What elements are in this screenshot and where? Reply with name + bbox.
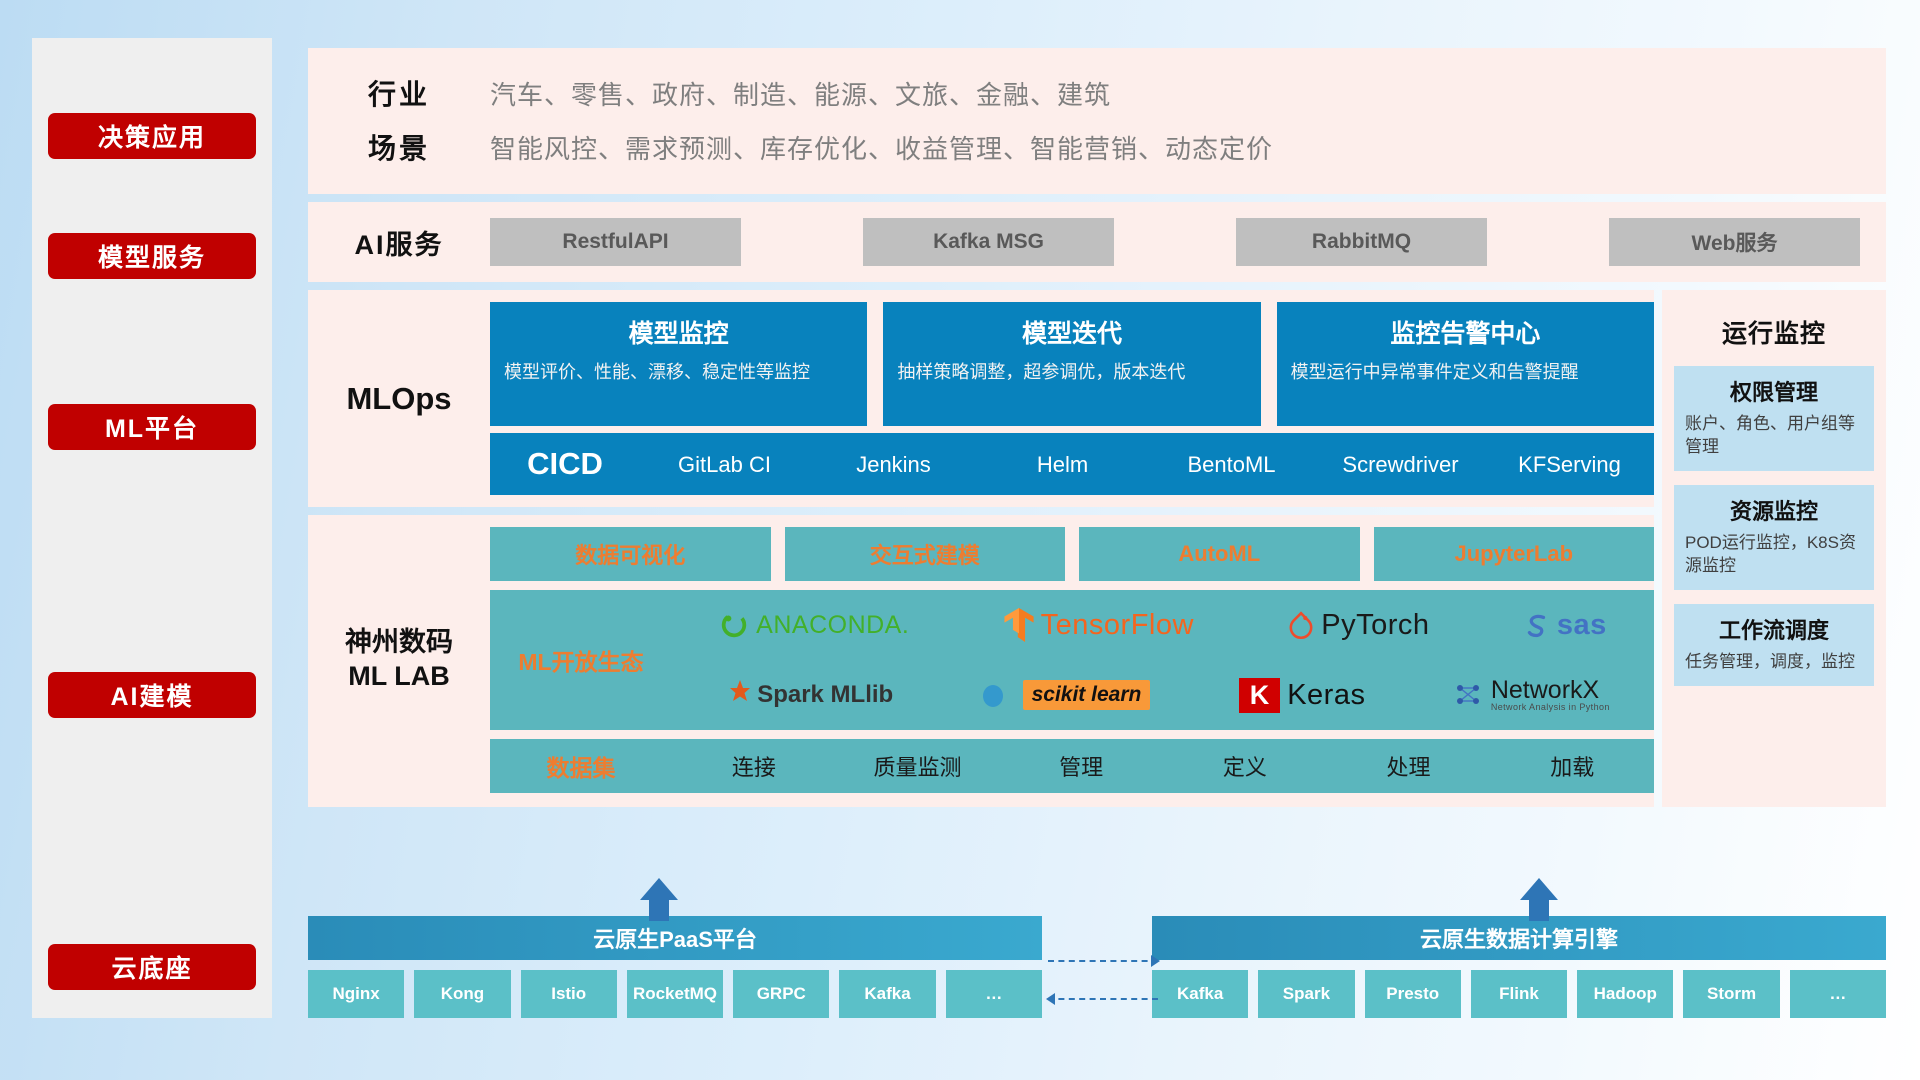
card-desc: POD运行监控，K8S资源监控 <box>1685 532 1863 578</box>
eco-logo-row-2: Spark MLlib scikit learn <box>672 660 1654 730</box>
card-title: 权限管理 <box>1685 375 1863 407</box>
industry-value: 汽车、零售、政府、制造、能源、文旅、金融、建筑 <box>490 75 1111 112</box>
mlops-card-list: 模型监控 模型评价、性能、漂移、稳定性等监控 模型迭代 抽样策略调整，超参调优，… <box>490 302 1654 426</box>
chip-rocketmq[interactable]: RocketMQ <box>627 970 723 1018</box>
spark-mllib-wordmark: Spark MLlib <box>757 681 893 709</box>
stage-chip-label: ML平台 <box>105 409 199 445</box>
ai-service-buttons: RestfulAPI Kafka MSG RabbitMQ Web服务 <box>490 218 1886 266</box>
stage-chip-ai-modeling[interactable]: AI建模 <box>48 672 256 718</box>
card-desc: 任务管理，调度，监控 <box>1685 651 1863 674</box>
bidirectional-dashed-link <box>1048 952 1158 1010</box>
spark-mllib-logo: Spark MLlib <box>716 680 893 710</box>
mlops-card-alert-center[interactable]: 监控告警中心 模型运行中异常事件定义和告警提醒 <box>1277 302 1654 426</box>
ml-lab-tabs: 数据可视化 交互式建模 AutoML JupyterLab <box>490 527 1654 581</box>
eco-logo-row-1: ANACONDA. TensorFlo <box>672 590 1654 660</box>
mlops-label: MLOps <box>308 302 490 495</box>
ml-open-ecosystem: ML开放生态 <box>490 590 1654 730</box>
networkx-wordmark: NetworkX <box>1491 678 1610 703</box>
ml-open-ecosystem-label: ML开放生态 <box>490 643 672 677</box>
tab-jupyterlab[interactable]: JupyterLab <box>1374 527 1655 581</box>
mlops-band: MLOps 模型监控 模型评价、性能、漂移、稳定性等监控 模型迭代 抽样策略调整… <box>308 290 1654 507</box>
ai-service-band: AI服务 RestfulAPI Kafka MSG RabbitMQ Web服务 <box>308 202 1886 282</box>
card-desc: 模型评价、性能、漂移、稳定性等监控 <box>504 360 853 384</box>
card-desc: 模型运行中异常事件定义和告警提醒 <box>1291 360 1640 384</box>
cicd-item-jenkins[interactable]: Jenkins <box>809 452 978 476</box>
dataset-item-define[interactable]: 定义 <box>1163 750 1327 782</box>
anaconda-wordmark: ANACONDA. <box>756 611 909 640</box>
dashed-line-bottom <box>1048 998 1158 1000</box>
keras-wordmark: Keras <box>1287 679 1365 712</box>
tab-automl[interactable]: AutoML <box>1079 527 1360 581</box>
stage-chip-ml-platform[interactable]: ML平台 <box>48 404 256 450</box>
tab-data-visualization[interactable]: 数据可视化 <box>490 527 771 581</box>
runtime-monitor-column: 运行监控 权限管理 账户、角色、用户组等管理 资源监控 POD运行监控，K8S资… <box>1662 290 1886 807</box>
stage-chip-model-service[interactable]: 模型服务 <box>48 233 256 279</box>
cicd-title: CICD <box>490 446 640 482</box>
cicd-item-gitlab-ci[interactable]: GitLab CI <box>640 452 809 476</box>
chip-kong[interactable]: Kong <box>414 970 510 1018</box>
monitor-card-permission[interactable]: 权限管理 账户、角色、用户组等管理 <box>1674 366 1874 471</box>
card-title: 工作流调度 <box>1685 613 1863 645</box>
runtime-monitor-heading: 运行监控 <box>1674 300 1874 366</box>
stage-chip-label: 决策应用 <box>98 118 206 154</box>
cloud-compute-title: 云原生数据计算引擎 <box>1152 916 1886 960</box>
decision-application-band: 行业 汽车、零售、政府、制造、能源、文旅、金融、建筑 场景 智能风控、需求预测、… <box>308 48 1886 194</box>
spark-icon <box>716 680 750 710</box>
main-stack: 行业 汽车、零售、政府、制造、能源、文旅、金融、建筑 场景 智能风控、需求预测、… <box>308 48 1886 807</box>
chip-nginx[interactable]: Nginx <box>308 970 404 1018</box>
pytorch-icon <box>1288 610 1314 640</box>
card-desc: 账户、角色、用户组等管理 <box>1685 413 1863 459</box>
dataset-title: 数据集 <box>490 749 672 783</box>
ml-lab-label-line2: ML LAB <box>348 660 450 694</box>
chip-storm[interactable]: Storm <box>1683 970 1779 1018</box>
chip-more-compute[interactable]: … <box>1790 970 1886 1018</box>
sas-icon <box>1524 612 1550 638</box>
dataset-bar: 数据集 连接 质量监测 管理 定义 处理 加载 <box>490 739 1654 793</box>
ml-lab-label-line1: 神州数码 <box>345 626 453 660</box>
arrow-stem-left <box>649 899 669 921</box>
chip-spark[interactable]: Spark <box>1258 970 1354 1018</box>
arrow-up-right-icon <box>1520 878 1558 900</box>
dataset-item-load[interactable]: 加载 <box>1490 750 1654 782</box>
stage-chip-label: 云底座 <box>111 949 192 985</box>
pytorch-logo: PyTorch <box>1288 609 1429 642</box>
cicd-item-bentoml[interactable]: BentoML <box>1147 452 1316 476</box>
networkx-logo: NetworkX Network Analysis in Python <box>1454 678 1610 712</box>
cloud-compute-column: 云原生数据计算引擎 Kafka Spark Presto Flink Hadoo… <box>1152 916 1886 1018</box>
chip-kafka-compute[interactable]: Kafka <box>1152 970 1248 1018</box>
card-title: 监控告警中心 <box>1291 314 1640 350</box>
chip-kafka[interactable]: Kafka <box>839 970 935 1018</box>
card-title: 模型监控 <box>504 314 853 350</box>
keras-logo: K Keras <box>1239 678 1366 713</box>
stage-chip-decision-app[interactable]: 决策应用 <box>48 113 256 159</box>
scenario-value: 智能风控、需求预测、库存优化、收益管理、智能营销、动态定价 <box>490 129 1273 166</box>
monitor-card-workflow[interactable]: 工作流调度 任务管理，调度，监控 <box>1674 604 1874 686</box>
upward-arrows <box>308 878 1886 916</box>
anaconda-icon <box>719 610 749 640</box>
arrow-stem-right <box>1529 899 1549 921</box>
industry-label: 行业 <box>308 73 490 113</box>
chip-flink[interactable]: Flink <box>1471 970 1567 1018</box>
card-title: 资源监控 <box>1685 494 1863 526</box>
stage-chip-cloud-base[interactable]: 云底座 <box>48 944 256 990</box>
networkx-icon <box>1454 681 1484 709</box>
arrowhead-right-icon <box>1151 955 1160 967</box>
networkx-tagline: Network Analysis in Python <box>1491 703 1610 712</box>
ml-lab-band: 神州数码 ML LAB 数据可视化 交互式建模 AutoML JupyterLa… <box>308 515 1654 807</box>
cloud-paas-title: 云原生PaaS平台 <box>308 916 1042 960</box>
card-title: 模型迭代 <box>897 314 1246 350</box>
ml-lab-label: 神州数码 ML LAB <box>308 527 490 793</box>
cloud-paas-chips: Nginx Kong Istio RocketMQ GRPC Kafka … <box>308 970 1042 1018</box>
ai-service-button-rabbitmq[interactable]: RabbitMQ <box>1236 218 1487 266</box>
ai-service-label: AI服务 <box>308 223 490 262</box>
diagram-canvas: 决策应用 模型服务 ML平台 AI建模 云底座 行业 汽车、零售、政府、制造、能… <box>0 0 1920 1080</box>
stage-chip-label: AI建模 <box>110 677 193 713</box>
scenario-label: 场景 <box>308 127 490 167</box>
cloud-paas-column: 云原生PaaS平台 Nginx Kong Istio RocketMQ GRPC… <box>308 916 1042 1018</box>
tab-interactive-modeling[interactable]: 交互式建模 <box>785 527 1066 581</box>
chip-grpc[interactable]: GRPC <box>733 970 829 1018</box>
scikit-learn-icon <box>982 681 1016 709</box>
ai-service-button-kafka-msg[interactable]: Kafka MSG <box>863 218 1114 266</box>
cicd-item-helm[interactable]: Helm <box>978 452 1147 476</box>
dataset-item-quality[interactable]: 质量监测 <box>836 750 1000 782</box>
pytorch-wordmark: PyTorch <box>1321 609 1429 642</box>
mlops-card-model-iteration[interactable]: 模型迭代 抽样策略调整，超参调优，版本迭代 <box>883 302 1260 426</box>
dataset-item-connect[interactable]: 连接 <box>672 750 836 782</box>
cicd-item-screwdriver[interactable]: Screwdriver <box>1316 452 1485 476</box>
keras-icon: K <box>1239 678 1281 713</box>
dataset-item-manage[interactable]: 管理 <box>999 750 1163 782</box>
industry-row: 行业 汽车、零售、政府、制造、能源、文旅、金融、建筑 <box>308 66 1886 120</box>
arrow-up-left-icon <box>640 878 678 900</box>
scikit-learn-logo: scikit learn <box>982 680 1151 710</box>
stage-chip-label: 模型服务 <box>98 238 206 274</box>
sas-wordmark: sas <box>1557 609 1607 642</box>
tensorflow-wordmark: TensorFlow <box>1041 609 1194 642</box>
card-desc: 抽样策略调整，超参调优，版本迭代 <box>897 360 1246 384</box>
sas-logo: sas <box>1524 609 1607 642</box>
platform-section: MLOps 模型监控 模型评价、性能、漂移、稳定性等监控 模型迭代 抽样策略调整… <box>308 290 1886 807</box>
ai-service-button-web[interactable]: Web服务 <box>1609 218 1860 266</box>
cicd-bar: CICD GitLab CI Jenkins Helm BentoML Scre… <box>490 433 1654 495</box>
ai-service-button-restfulapi[interactable]: RestfulAPI <box>490 218 741 266</box>
cloud-compute-chips: Kafka Spark Presto Flink Hadoop Storm … <box>1152 970 1886 1018</box>
tensorflow-logo: TensorFlow <box>1004 608 1194 642</box>
monitor-card-resource[interactable]: 资源监控 POD运行监控，K8S资源监控 <box>1674 485 1874 590</box>
chip-istio[interactable]: Istio <box>521 970 617 1018</box>
anaconda-logo: ANACONDA. <box>719 610 909 640</box>
tensorflow-icon <box>1004 608 1034 642</box>
scenario-row: 场景 智能风控、需求预测、库存优化、收益管理、智能营销、动态定价 <box>308 120 1886 174</box>
chip-more[interactable]: … <box>946 970 1042 1018</box>
stage-rail <box>32 38 272 1018</box>
chip-hadoop[interactable]: Hadoop <box>1577 970 1673 1018</box>
arrowhead-left-icon <box>1046 993 1055 1005</box>
dataset-item-process[interactable]: 处理 <box>1327 750 1491 782</box>
dashed-line-top <box>1048 960 1158 962</box>
mlops-card-model-monitoring[interactable]: 模型监控 模型评价、性能、漂移、稳定性等监控 <box>490 302 867 426</box>
chip-presto[interactable]: Presto <box>1365 970 1461 1018</box>
scikit-learn-wordmark: scikit learn <box>1023 680 1151 710</box>
cicd-item-kfserving[interactable]: KFServing <box>1485 452 1654 476</box>
